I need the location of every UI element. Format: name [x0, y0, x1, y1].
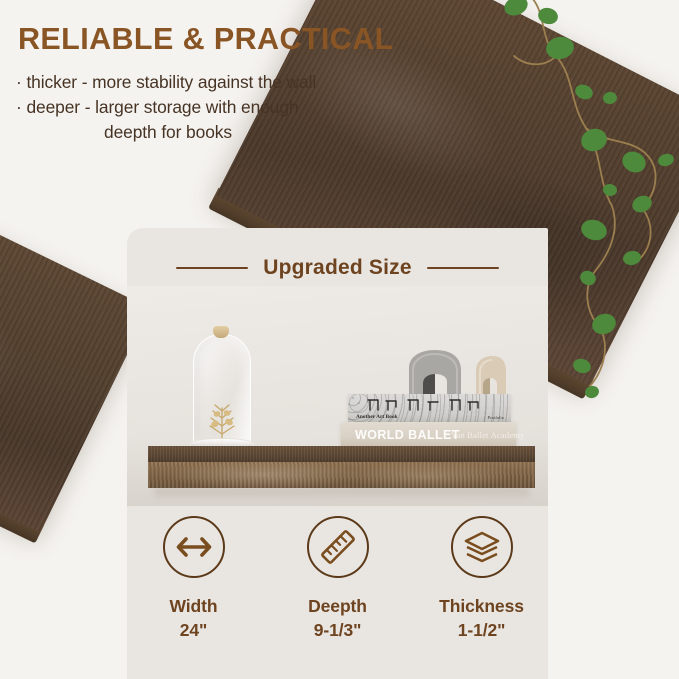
specification-row: Width 24": [127, 516, 548, 641]
spec-item-width: Width 24": [148, 516, 240, 641]
shelf-product-photo: Another Art Book Portfolio WORLD BALLET …: [127, 286, 548, 506]
feature-bullet-list: · thicker - more stability against the w…: [16, 70, 416, 145]
shelf-front-edge: [148, 462, 535, 488]
shelf-drop-shadow: [154, 488, 529, 500]
spec-value: 9-1/3": [314, 620, 362, 641]
section-header: Upgraded Size: [127, 256, 548, 280]
spec-item-depth: Deepth 9-1/3": [292, 516, 384, 641]
list-item: · deeper - larger storage with enough: [16, 95, 416, 120]
shelf-top-surface: [148, 446, 535, 462]
divider-right: [427, 267, 499, 270]
spec-icon-circle: [307, 516, 369, 578]
elephant-figurine-grey: [403, 348, 467, 400]
book-subtitle: Yan Ballet Academy: [451, 430, 525, 440]
upgraded-size-panel: Upgraded Size: [127, 228, 548, 679]
spec-value: 1-1/2": [458, 620, 506, 641]
bullet-text: thicker - more stability against the wal…: [26, 72, 316, 92]
book-cover-text-right: Portfolio: [488, 415, 504, 420]
spec-label: Width: [170, 596, 218, 617]
double-arrow-horizontal-icon: [175, 534, 213, 560]
glass-cloche: [189, 318, 253, 448]
book-cover-text-left: Another Art Book: [356, 414, 398, 420]
book-cover-glyphs: [366, 396, 486, 412]
spec-item-thickness: Thickness 1-1/2": [436, 516, 528, 641]
art-book-top: Another Art Book Portfolio: [348, 394, 511, 424]
bullet-text: deepth for books: [104, 122, 232, 142]
book-title: WORLD BALLET: [355, 428, 460, 442]
bullet-text: deeper - larger storage with enough: [26, 97, 298, 117]
list-item: deepth for books: [16, 120, 416, 145]
list-item: · thicker - more stability against the w…: [16, 70, 416, 95]
spec-label: Thickness: [439, 596, 524, 617]
dried-botanical: [203, 396, 241, 442]
section-title: Upgraded Size: [263, 256, 411, 280]
spec-icon-circle: [451, 516, 513, 578]
divider-left: [176, 267, 248, 270]
spec-value: 24": [180, 620, 207, 641]
layers-icon: [463, 531, 501, 563]
bullet-marker: ·: [16, 72, 22, 92]
page-title: RELIABLE & PRACTICAL: [18, 22, 394, 57]
bullet-marker: ·: [16, 97, 22, 117]
world-ballet-book: WORLD BALLET Yan Ballet Academy: [341, 422, 516, 448]
infographic-canvas: RELIABLE & PRACTICAL · thicker - more st…: [0, 0, 679, 679]
floating-shelf: [148, 446, 535, 495]
cloche-knob: [213, 326, 229, 338]
spec-icon-circle: [163, 516, 225, 578]
ruler-icon: [319, 528, 357, 566]
spec-label: Deepth: [308, 596, 367, 617]
